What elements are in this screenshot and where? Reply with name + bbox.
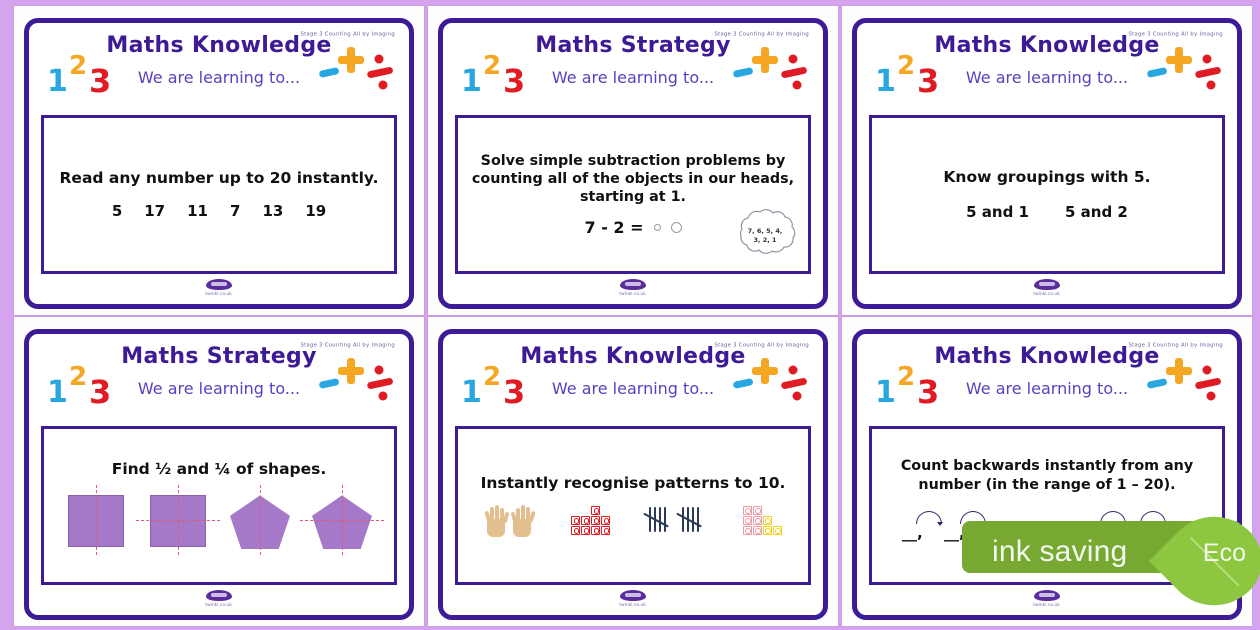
number-item: 17 — [144, 202, 165, 220]
card-header: Stage 3 Counting All by Imaging 1 2 3 Ma… — [867, 29, 1227, 113]
statement-emphasis: subtraction — [588, 153, 681, 169]
learning-statement: Read any number up to 20 instantly. — [54, 169, 385, 189]
card-footer: twinkl.co.uk — [867, 274, 1227, 300]
twinkl-logo-icon — [1034, 279, 1060, 290]
page-sheet: Stage 3 Counting All by Imaging 1 2 3 Ma… — [428, 317, 838, 626]
learning-statement: Solve simple subtraction problems by cou… — [458, 152, 808, 207]
card-header: Stage 3 Counting All by Imaging 1 2 3 Ma… — [453, 29, 813, 113]
card-footer: twinkl.co.uk — [39, 585, 399, 611]
card-header: Stage 3 Counting All by Imaging 1 2 3 Ma… — [453, 340, 813, 424]
shape-pentagon-half — [224, 489, 296, 551]
card-footer: twinkl.co.uk — [39, 274, 399, 300]
card-footer: twinkl.co.uk — [867, 585, 1227, 611]
number-list: 5 17 11 7 13 19 — [112, 202, 326, 220]
twinkl-logo-icon — [206, 279, 232, 290]
card-content-box: Solve simple subtraction problems by cou… — [455, 115, 811, 274]
card-content-box: Read any number up to 20 instantly. 5 17… — [41, 115, 397, 274]
grouping-pairs: 5 and 1 5 and 2 — [966, 203, 1128, 221]
jump-arc-icon — [916, 511, 942, 524]
math-operators-icon — [1145, 354, 1225, 410]
ink-saving-eco-badge[interactable]: ink saving Eco — [962, 515, 1260, 577]
maths-card-2[interactable]: Stage 3 Counting All by Imaging 1 2 3 Ma… — [438, 18, 828, 309]
thought-bubble: 7, 6, 5, 4, 3, 2, 1 — [730, 209, 800, 263]
tally-marks-icon — [647, 507, 706, 533]
twinkl-url: twinkl.co.uk — [1034, 291, 1061, 297]
shape-square-half — [60, 489, 132, 551]
math-operators-icon — [317, 43, 397, 99]
number-item: 13 — [262, 202, 283, 220]
thought-bubble-text: 7, 6, 5, 4, 3, 2, 1 — [748, 227, 783, 245]
page-sheet: Stage 3 Counting All by Imaging 1 2 3 Ma… — [428, 6, 838, 315]
number-item: 19 — [305, 202, 326, 220]
math-operators-icon — [731, 354, 811, 410]
twinkl-logo-icon — [206, 590, 232, 601]
maths-card-4[interactable]: Stage 3 Counting All by Imaging 1 2 3 Ma… — [24, 329, 414, 620]
number-item: 11 — [187, 202, 208, 220]
twinkl-url: twinkl.co.uk — [206, 602, 233, 608]
object-dot-icon — [654, 224, 661, 231]
object-dot-icon — [671, 222, 682, 233]
twinkl-url: twinkl.co.uk — [620, 291, 647, 297]
twinkl-url: twinkl.co.uk — [1034, 602, 1061, 608]
number-item: 7 — [230, 202, 240, 220]
twinkl-url: twinkl.co.uk — [206, 291, 233, 297]
pattern-illustrations-row — [458, 503, 808, 537]
equation-text: 7 - 2 = — [584, 218, 643, 237]
two-hands-icon — [484, 503, 534, 537]
grouping-pair: 5 and 2 — [1065, 203, 1128, 221]
math-operators-icon — [317, 354, 397, 410]
twinkl-logo-icon — [620, 590, 646, 601]
math-operators-icon — [731, 43, 811, 99]
learning-statement: Count backwards instantly from any numbe… — [872, 457, 1222, 494]
twinkl-url: twinkl.co.uk — [620, 602, 647, 608]
card-footer: twinkl.co.uk — [453, 585, 813, 611]
learning-statement: Find ½ and ¼ of shapes. — [106, 460, 333, 480]
worksheet-preview: Stage 3 Counting All by Imaging 1 2 3 Ma… — [0, 0, 1260, 630]
page-sheet: Stage 3 Counting All by Imaging 1 2 3 Ma… — [14, 6, 424, 315]
eco-label: Eco — [1203, 539, 1246, 568]
shape-pentagon-quarter — [306, 489, 378, 551]
shape-square-quarter — [142, 489, 214, 551]
sequence-blank: __, — [902, 524, 923, 542]
red-numicon-icon — [571, 506, 610, 535]
card-header: Stage 3 Counting All by Imaging 1 2 3 Ma… — [867, 340, 1227, 424]
card-content-box: Know groupings with 5. 5 and 1 5 and 2 — [869, 115, 1225, 274]
card-header: Stage 3 Counting All by Imaging 1 2 3 Ma… — [39, 340, 399, 424]
fraction-shapes-row — [44, 489, 394, 551]
statement-prefix: Solve simple — [481, 153, 588, 169]
maths-card-5[interactable]: Stage 3 Counting All by Imaging 1 2 3 Ma… — [438, 329, 828, 620]
card-header: Stage 3 Counting All by Imaging 1 2 3 Ma… — [39, 29, 399, 113]
pink-yellow-numicon-icon — [743, 506, 782, 535]
thought-line: 3, 2, 1 — [748, 236, 783, 245]
card-content-box: Instantly recognise patterns to 10. — [455, 426, 811, 585]
maths-card-1[interactable]: Stage 3 Counting All by Imaging 1 2 3 Ma… — [24, 18, 414, 309]
learning-statement: Know groupings with 5. — [937, 168, 1156, 188]
twinkl-logo-icon — [1034, 590, 1060, 601]
maths-card-3[interactable]: Stage 3 Counting All by Imaging 1 2 3 Ma… — [852, 18, 1242, 309]
learning-statement: Instantly recognise patterns to 10. — [475, 474, 792, 494]
equation-row: 7 - 2 = — [584, 218, 681, 237]
card-content-box: Find ½ and ¼ of shapes. — [41, 426, 397, 585]
number-item: 5 — [112, 202, 122, 220]
grouping-pair: 5 and 1 — [966, 203, 1029, 221]
math-operators-icon — [1145, 43, 1225, 99]
thought-line: 7, 6, 5, 4, — [748, 227, 783, 236]
page-sheet: Stage 3 Counting All by Imaging 1 2 3 Ma… — [14, 317, 424, 626]
page-sheet: Stage 3 Counting All by Imaging 1 2 3 Ma… — [842, 6, 1252, 315]
twinkl-logo-icon — [620, 279, 646, 290]
card-footer: twinkl.co.uk — [453, 274, 813, 300]
ink-saving-label: ink saving — [992, 535, 1127, 569]
